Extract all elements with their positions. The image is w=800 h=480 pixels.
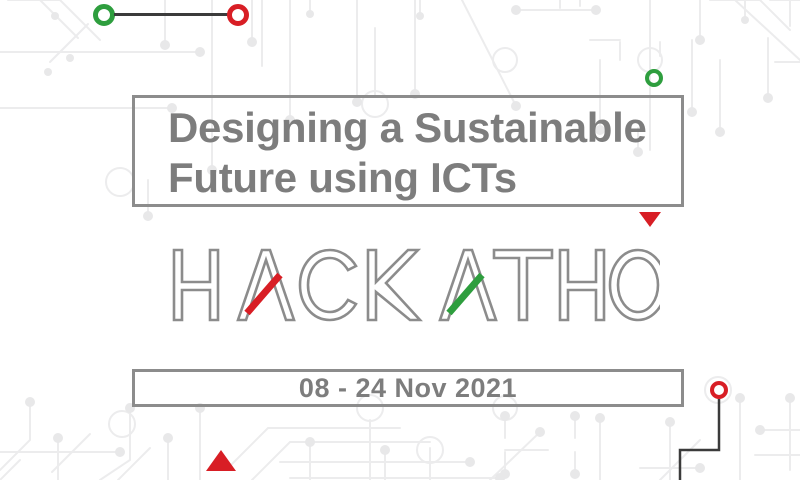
green-ring-above-title (645, 69, 663, 87)
green-ring-top-left (93, 4, 115, 26)
letter-H-1 (174, 250, 218, 320)
event-date: 08 - 24 Nov 2021 (299, 375, 517, 402)
letter-C (300, 250, 356, 320)
title-box: Designing a Sustainable Future using ICT… (132, 95, 684, 207)
hackathon-wordmark (160, 238, 660, 328)
letter-O-inner (618, 258, 658, 312)
date-box: 08 - 24 Nov 2021 (132, 369, 684, 407)
letter-H-2 (560, 250, 604, 320)
letter-T (494, 250, 552, 320)
red-triangle-up-icon (206, 450, 236, 471)
red-ring-bottom-right (710, 381, 728, 399)
page-title: Designing a Sustainable Future using ICT… (168, 103, 668, 203)
connector-line-top (114, 13, 228, 16)
red-ring-top-left (227, 4, 249, 26)
letter-K (368, 250, 420, 320)
hackathon-poster: Designing a Sustainable Future using ICT… (0, 0, 800, 480)
red-triangle-down-icon (639, 212, 661, 227)
